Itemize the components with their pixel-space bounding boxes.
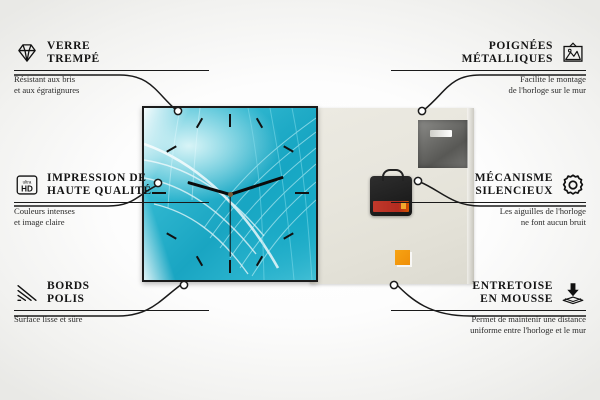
callout-title: MÉCANISME (475, 172, 553, 185)
callout-title: POIGNÉES (462, 40, 553, 53)
picture-hanger-icon (560, 40, 586, 66)
callout-desc-2: uniforme entre l'horloge et le mur (391, 325, 586, 336)
callout-title-2: MÉTALLIQUES (462, 53, 553, 66)
infographic-canvas: VERRE TREMPÉ Résistant aux bris et aux é… (0, 0, 600, 400)
callout-desc-2: ne font aucun bruit (391, 217, 586, 228)
ultra-hd-icon: ultra HD (14, 172, 40, 198)
callout-title-2: HAUTE QUALITÉ (47, 185, 152, 198)
callout-impression: ultra HD IMPRESSION DE HAUTE QUALITÉ Cou… (14, 172, 209, 227)
callout-title: VERRE (47, 40, 100, 53)
callout-title-2: POLIS (47, 293, 90, 306)
callout-rule (391, 202, 586, 203)
callout-desc-1: Résistant aux bris (14, 74, 209, 85)
metal-hanger-plate (418, 120, 468, 168)
callout-rule (14, 202, 209, 203)
callout-desc-1: Couleurs intenses (14, 206, 209, 217)
gear-icon (560, 172, 586, 198)
callout-rule (391, 70, 586, 71)
callout-rule (391, 310, 586, 311)
callout-title: ENTRETOISE (472, 280, 553, 293)
clock-tick (229, 114, 231, 127)
callout-title: BORDS (47, 280, 90, 293)
svg-text:ultra: ultra (23, 179, 32, 184)
callout-desc-1: Facilite le montage (391, 74, 586, 85)
diamond-icon (14, 40, 40, 66)
callout-entretoise: ENTRETOISE EN MOUSSE Permet de maintenir… (391, 280, 586, 335)
callout-title: IMPRESSION DE (47, 172, 152, 185)
callout-desc-1: Permet de maintenir une distance (391, 314, 586, 325)
clock-tick (295, 192, 309, 194)
callout-title-2: TREMPÉ (47, 53, 100, 66)
clock-second-hand (229, 195, 230, 257)
callout-title-2: SILENCIEUX (475, 185, 553, 198)
foam-spacer-icon (560, 280, 586, 306)
clock-center-cap (228, 192, 233, 197)
clock-tick (229, 260, 231, 273)
foam-spacer (395, 250, 410, 265)
callout-rule (14, 70, 209, 71)
callout-title-2: EN MOUSSE (472, 293, 553, 306)
svg-text:HD: HD (21, 185, 33, 194)
callout-bords-polis: BORDS POLIS Surface lisse et sûre (14, 280, 209, 325)
callout-rule (14, 310, 209, 311)
callout-verre-trempe: VERRE TREMPÉ Résistant aux bris et aux é… (14, 40, 209, 95)
polished-edge-icon (14, 280, 40, 306)
callout-mecanisme: MÉCANISME SILENCIEUX Les aiguilles de l'… (391, 172, 586, 227)
callout-poignees: POIGNÉES MÉTALLIQUES Facilite le montage… (391, 40, 586, 95)
callout-desc-2: de l'horloge sur le mur (391, 85, 586, 96)
callout-desc-2: et image claire (14, 217, 209, 228)
callout-desc-1: Les aiguilles de l'horloge (391, 206, 586, 217)
callout-desc-2: et aux égratignures (14, 85, 209, 96)
callout-desc-1: Surface lisse et sûre (14, 314, 209, 325)
